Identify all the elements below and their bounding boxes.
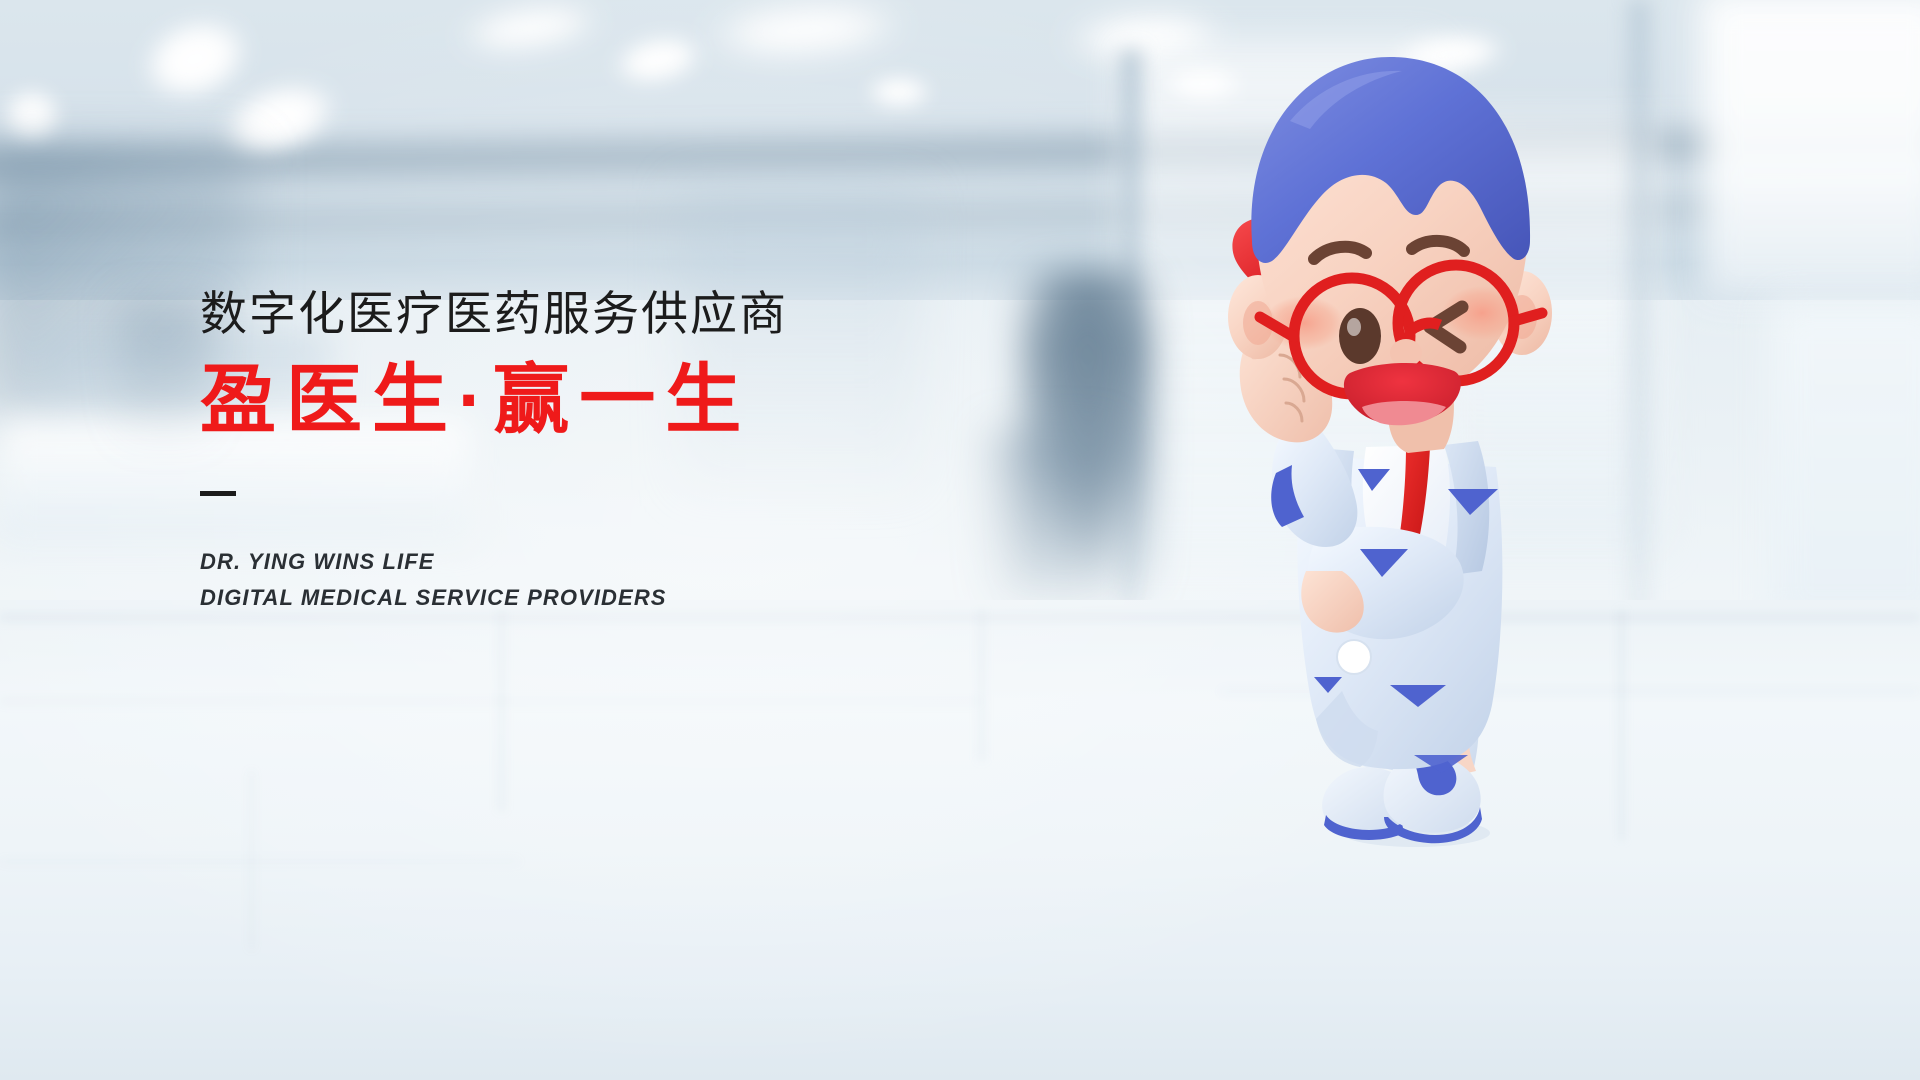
hero-headline: 盈医生·赢一生 bbox=[200, 363, 1020, 439]
hero-divider-rule bbox=[200, 491, 236, 496]
hero-copy-block: 数字化医疗医药服务供应商 盈医生·赢一生 DR. YING WINS LIFE … bbox=[200, 290, 1020, 615]
hero-english-line-2: DIGITAL MEDICAL SERVICE PROVIDERS bbox=[200, 580, 1020, 616]
hero-banner: 数字化医疗医药服务供应商 盈医生·赢一生 DR. YING WINS LIFE … bbox=[0, 0, 1920, 1080]
eye-left-glint bbox=[1347, 318, 1361, 336]
nose bbox=[1390, 339, 1422, 367]
glasses-temple-right bbox=[1514, 313, 1542, 321]
hero-english-block: DR. YING WINS LIFE DIGITAL MEDICAL SERVI… bbox=[200, 544, 1020, 615]
eye-left-open bbox=[1339, 308, 1381, 364]
hero-subtitle: 数字化医疗医药服务供应商 bbox=[200, 290, 1020, 337]
doctor-mascot-illustration bbox=[1230, 55, 1650, 845]
hero-english-line-1: DR. YING WINS LIFE bbox=[200, 544, 1020, 580]
